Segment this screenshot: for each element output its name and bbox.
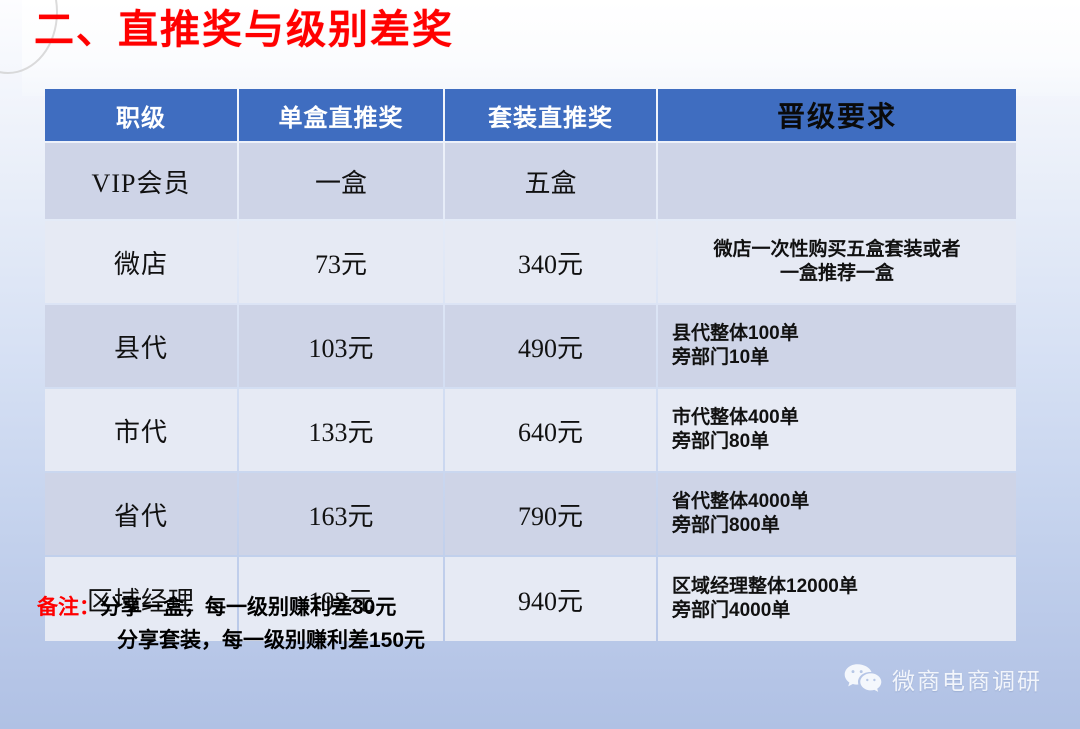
requirement-line: 微店一次性购买五盒套装或者 [668,238,1006,262]
watermark: 微商电商调研 [843,662,1042,696]
column-header-requirement: 晋级要求 [658,89,1016,141]
footnote-text-2: 分享套装，每一级别赚利差150元 [37,625,425,658]
requirement-line: 旁部门800单 [672,514,1006,538]
footnote-label: 备注： [37,596,100,619]
requirement-line: 旁部门80单 [672,430,1006,454]
cell-set: 340元 [445,221,656,303]
cell-rank: VIP会员 [45,143,237,219]
requirement-line: 省代整体4000单 [672,490,1006,514]
cell-rank: 省代 [45,473,237,555]
column-header-rank: 职级 [45,89,237,141]
footnote: 备注：分享一盒，每一级别赚利差30元 分享套装，每一级别赚利差150元 [37,592,425,657]
table-row: 市代 133元 640元 市代整体400单 旁部门80单 [45,389,1016,471]
table-body: VIP会员 一盒 五盒 微店 73元 340元 微店一次性购买五盒套装或者 一盒… [45,143,1016,641]
table-row: 省代 163元 790元 省代整体4000单 旁部门800单 [45,473,1016,555]
page-title: 二、直推奖与级别差奖 [34,6,454,54]
bonus-table-wrapper: 职级 单盒直推奖 套装直推奖 晋级要求 VIP会员 一盒 五盒 [43,87,1016,643]
bonus-table: 职级 单盒直推奖 套装直推奖 晋级要求 VIP会员 一盒 五盒 [43,87,1018,643]
table-header-row: 职级 单盒直推奖 套装直推奖 晋级要求 [45,89,1016,141]
cell-set: 五盒 [445,143,656,219]
requirement-line: 一盒推荐一盒 [668,262,1006,286]
slide-canvas: 二、直推奖与级别差奖 职级 单盒直推奖 套装直推奖 晋级要求 VIP会员 一盒 … [0,0,1080,729]
cell-set: 490元 [445,305,656,387]
cell-set: 940元 [445,557,656,641]
cell-requirement: 市代整体400单 旁部门80单 [658,389,1016,471]
cell-single-box: 133元 [239,389,443,471]
requirement-line: 区域经理整体12000单 [672,575,1006,599]
requirement-line: 旁部门4000单 [672,599,1006,623]
cell-requirement: 省代整体4000单 旁部门800单 [658,473,1016,555]
column-header-set: 套装直推奖 [445,89,656,141]
wechat-icon [843,663,883,695]
cell-requirement: 区域经理整体12000单 旁部门4000单 [658,557,1016,641]
cell-requirement [658,143,1016,219]
cell-requirement: 县代整体100单 旁部门10单 [658,305,1016,387]
footnote-line-1: 备注：分享一盒，每一级别赚利差30元 [37,596,396,619]
cell-rank: 微店 [45,221,237,303]
table-row: 县代 103元 490元 县代整体100单 旁部门10单 [45,305,1016,387]
cell-requirement: 微店一次性购买五盒套装或者 一盒推荐一盒 [658,221,1016,303]
cell-single-box: 一盒 [239,143,443,219]
requirement-line: 旁部门10单 [672,346,1006,370]
watermark-text: 微商电商调研 [892,662,1042,696]
cell-single-box: 73元 [239,221,443,303]
cell-set: 790元 [445,473,656,555]
table-row: 微店 73元 340元 微店一次性购买五盒套装或者 一盒推荐一盒 [45,221,1016,303]
cell-single-box: 103元 [239,305,443,387]
table-row: VIP会员 一盒 五盒 [45,143,1016,219]
cell-rank: 市代 [45,389,237,471]
cell-set: 640元 [445,389,656,471]
cell-rank: 县代 [45,305,237,387]
requirement-line: 市代整体400单 [672,406,1006,430]
requirement-line: 县代整体100单 [672,322,1006,346]
footnote-text-1: 分享一盒，每一级别赚利差30元 [100,596,396,619]
cell-single-box: 163元 [239,473,443,555]
table-header: 职级 单盒直推奖 套装直推奖 晋级要求 [45,89,1016,141]
column-header-single-box: 单盒直推奖 [239,89,443,141]
